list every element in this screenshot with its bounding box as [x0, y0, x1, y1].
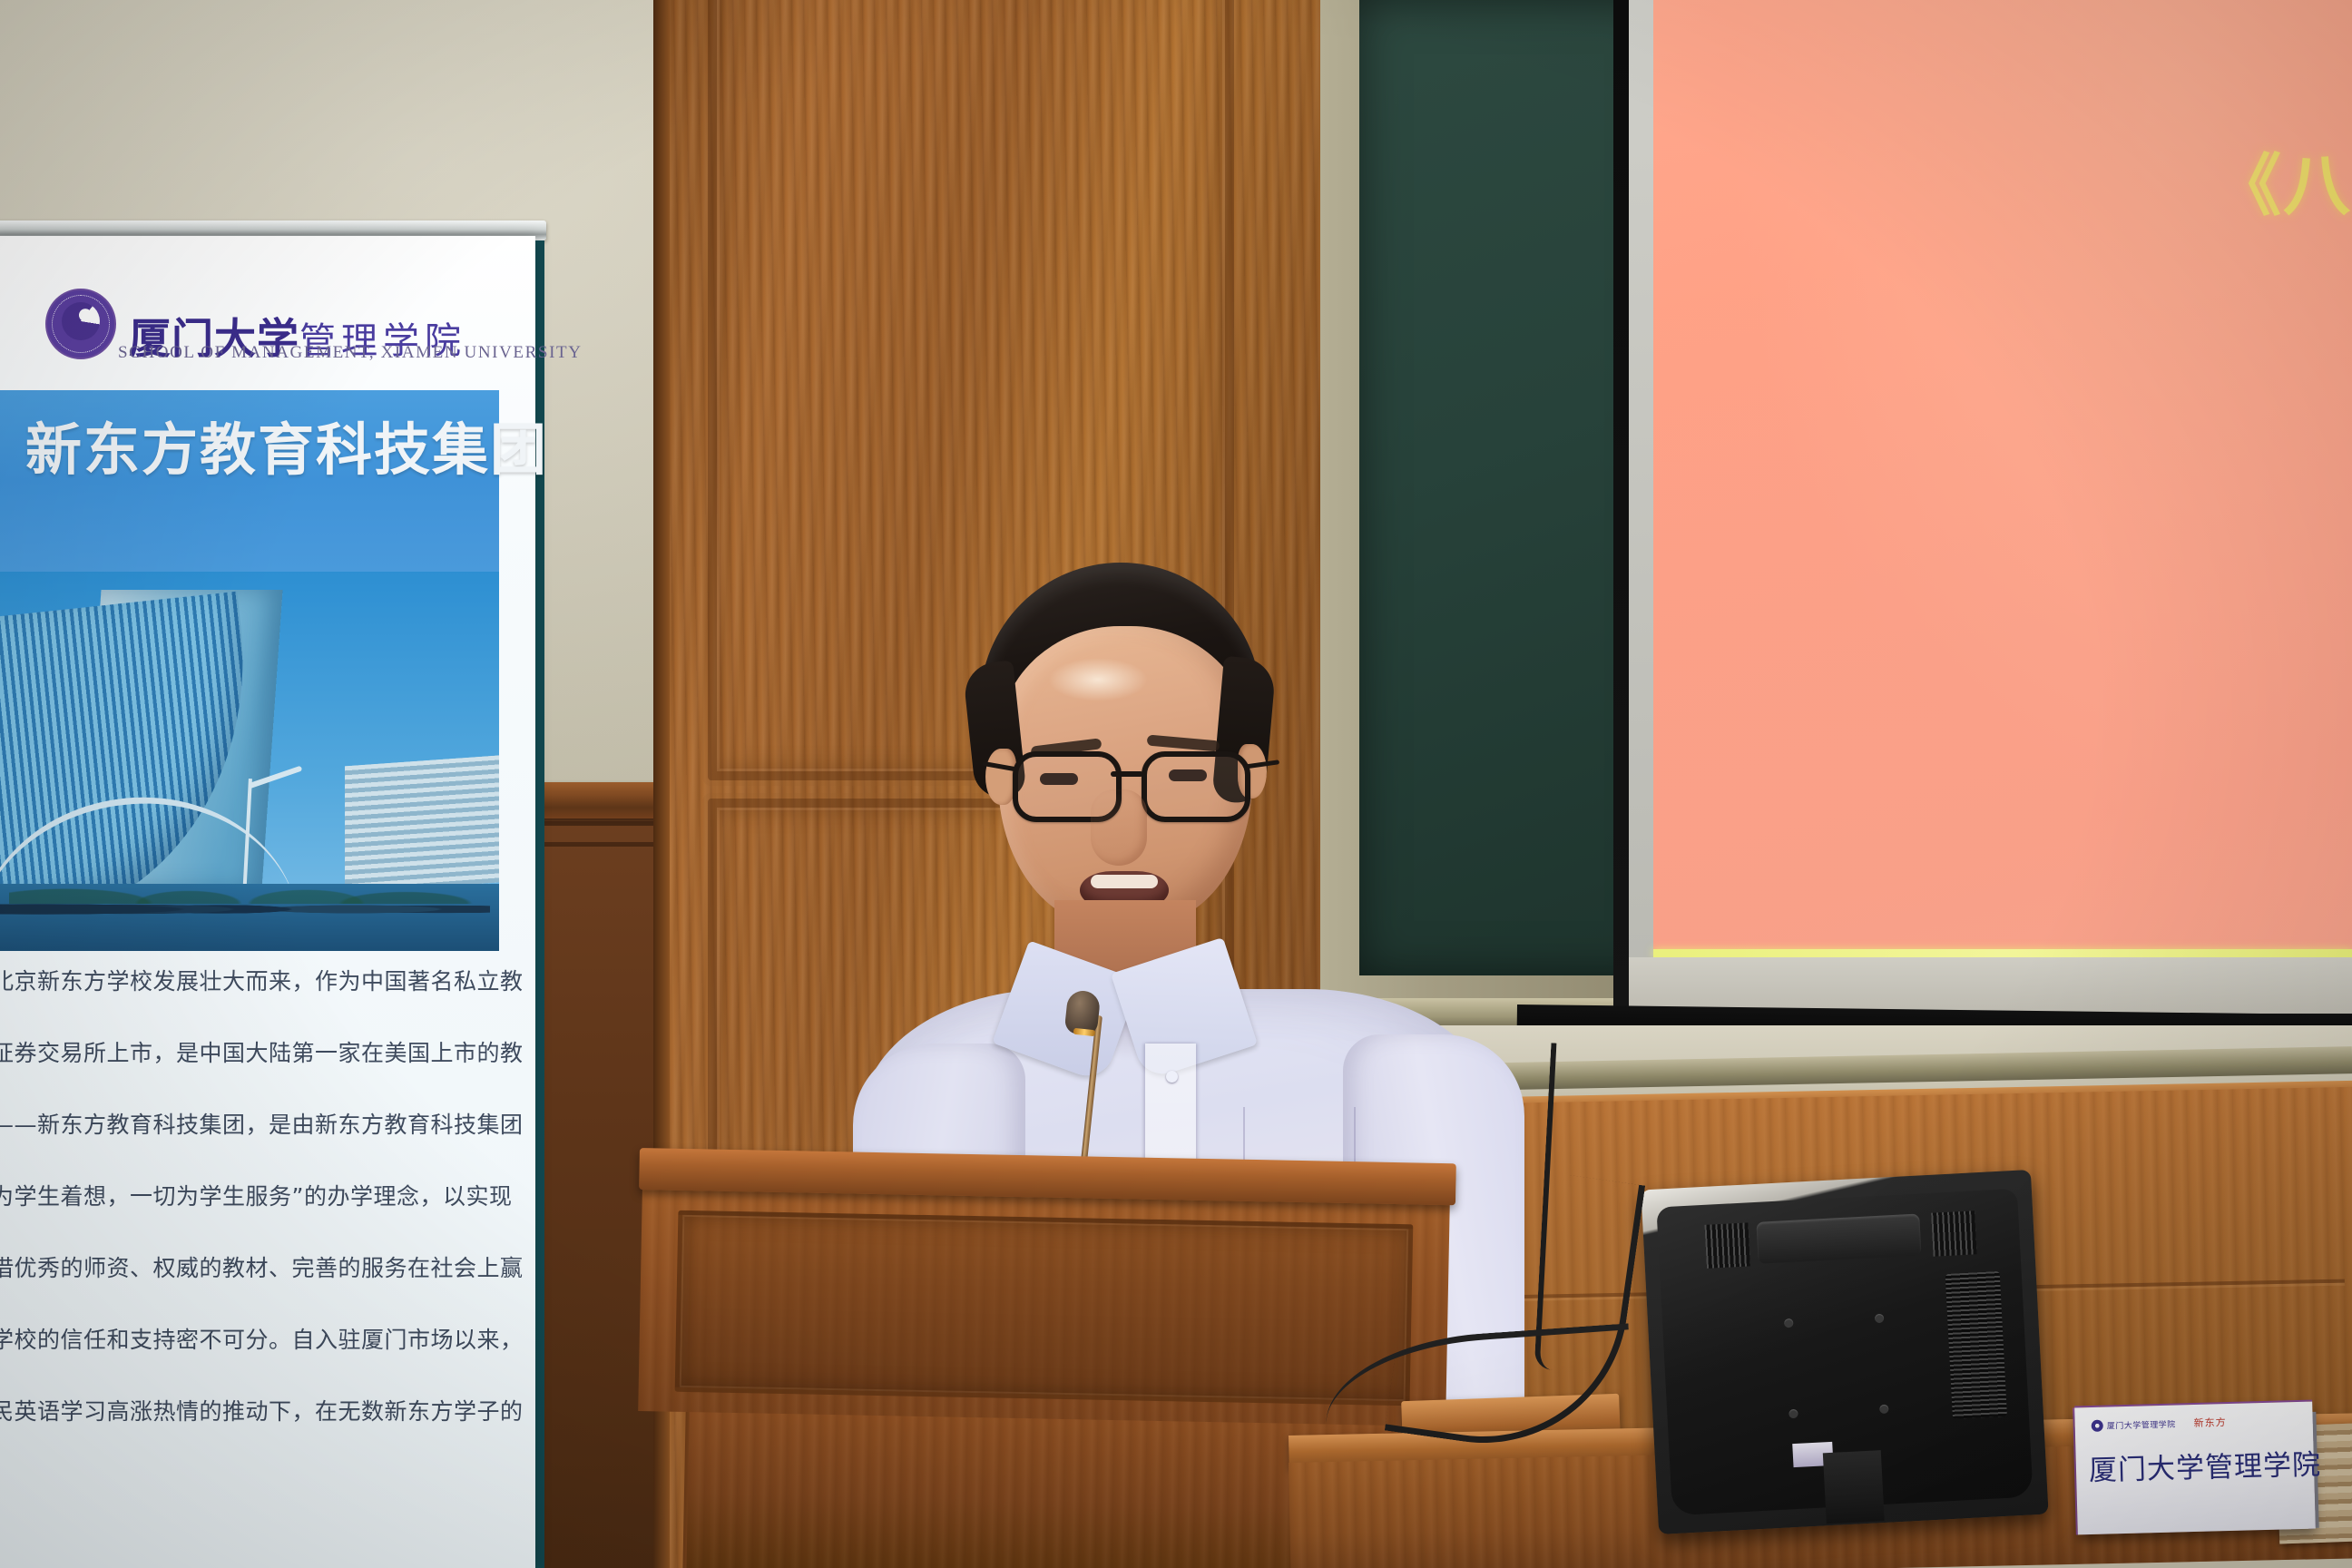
lecture-hall-photo: 《八 厦门大学管理学院 SCHOOL OF MANAGEMENT, XIAMEN…: [0, 0, 2352, 1568]
projection-screen-surface: 《八: [1653, 0, 2352, 949]
nose: [1091, 789, 1147, 866]
banner-body-line: 民英语学习高涨热情的推动下，在无数新东方学子的: [0, 1392, 492, 1431]
seal-wave-glyph: [62, 302, 100, 340]
nameplate-xmu-logo: 厦门大学管理学院: [2092, 1417, 2176, 1431]
banner-body-text: 北京新东方学校发展壮大而来，作为中国著名私立教 证券交易所上市，是中国大陆第一家…: [0, 962, 492, 1431]
nameplate-text: 厦门大学管理学院: [2088, 1442, 2301, 1488]
banner-body-line: 借优秀的师资、权威的教材、完善的服务在社会上赢: [0, 1249, 492, 1288]
banner-body-line: 学校的信任和支持密不可分。自入驻厦门市场以来，: [0, 1320, 492, 1359]
xiamen-university-seal-icon: [45, 289, 116, 359]
shirt-button: [1166, 1071, 1178, 1083]
forehead-highlight: [1048, 658, 1148, 701]
screen-bottom-band: [1629, 957, 2352, 1014]
nameplate-xmu-text: 厦门大学管理学院: [2107, 1417, 2176, 1431]
monitor-handle: [1756, 1213, 1921, 1263]
banner-photo: [0, 572, 499, 951]
banner-body-line: 为学生着想，一切为学生服务”的办学理念，以实现: [0, 1177, 492, 1216]
lens-right: [1142, 751, 1250, 822]
monitor-vent-right: [1931, 1210, 1976, 1256]
nameplate-logo-row: 厦门大学管理学院 新东方: [2092, 1415, 2227, 1433]
lectern-body: [638, 1184, 1450, 1426]
lectern-front-panel: [675, 1210, 1414, 1406]
monitor-vent-side: [1945, 1271, 2007, 1419]
nameplate-partner-logo: 新东方: [2193, 1415, 2226, 1430]
teeth: [1091, 875, 1158, 888]
banner-headline: 新东方教育科技集团: [25, 422, 548, 478]
desk-nameplate: 厦门大学管理学院 新东方 厦门大学管理学院: [2074, 1402, 2316, 1535]
xiamen-university-seal-icon: [2092, 1419, 2103, 1431]
banner-body-line: 证券交易所上市，是中国大陆第一家在美国上市的教: [0, 1034, 492, 1073]
glasses-bridge: [1111, 771, 1143, 777]
ear-left: [985, 749, 1016, 805]
banner-body-line: ——新东方教育科技集团，是由新东方教育科技集团: [0, 1105, 492, 1144]
roll-up-banner: 厦门大学管理学院 SCHOOL OF MANAGEMENT, XIAMEN UN…: [0, 236, 535, 1568]
photo-cars: [0, 893, 490, 920]
monitor-stand: [1823, 1450, 1885, 1524]
slide-underline: [1653, 949, 2352, 957]
desktop-monitor[interactable]: [1641, 1170, 2048, 1534]
banner-body-line: 北京新东方学校发展壮大而来，作为中国著名私立教: [0, 962, 492, 1001]
banner-org-name-en: SCHOOL OF MANAGEMENT, XIAMEN UNIVERSITY: [118, 343, 583, 363]
slide-title-text: 《八: [2214, 152, 2352, 220]
monitor-vent-left: [1704, 1222, 1749, 1268]
